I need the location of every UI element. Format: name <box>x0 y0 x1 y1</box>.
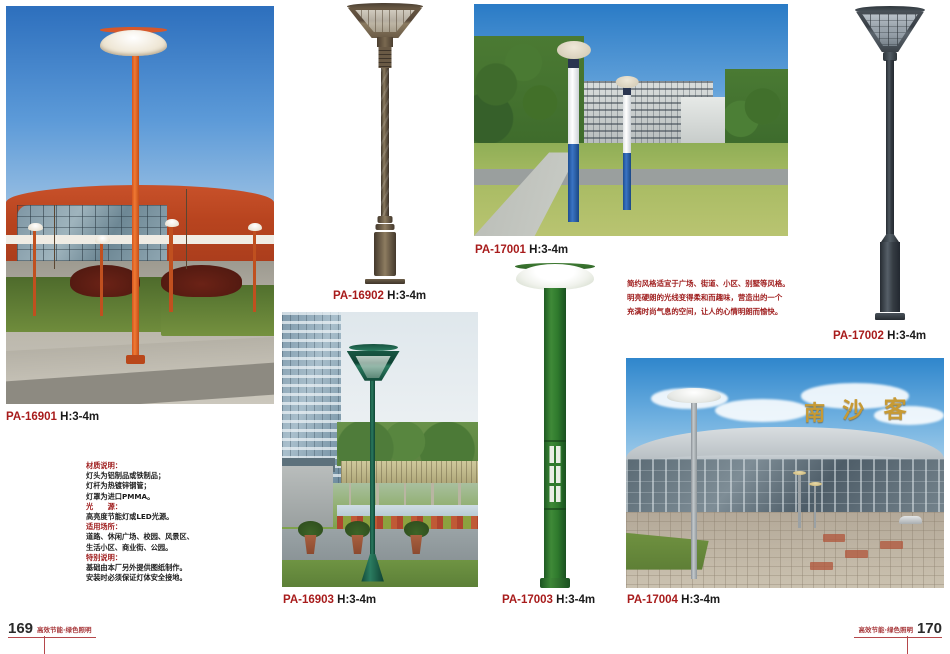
lamp-blue-base <box>568 144 579 222</box>
page-number-right: 170 <box>917 621 942 638</box>
building-podium <box>282 466 333 527</box>
pole-base-column <box>374 232 396 276</box>
pole-seam-upper <box>544 440 566 442</box>
lamp-neck <box>377 37 393 47</box>
paving-pattern-1 <box>810 562 832 570</box>
sign-character-1: 南 <box>804 397 825 427</box>
product-code: PA-16903 <box>283 594 334 606</box>
specification-text-block: 材质说明： 灯头为铝制品或铁制品； 灯杆为热镀锌钢管； 灯罩为进口PMMA。 光… <box>86 461 246 583</box>
orange-lamp-base <box>126 355 146 365</box>
description-line: 简约风格适宜于广场、街道、小区、别墅等风格。 <box>627 277 822 291</box>
lamp-illuminated-shaft <box>623 95 631 153</box>
product-photo-pa-17002 <box>836 2 944 320</box>
caption-pa-17002: PA-17002 H:3-4m <box>833 330 926 342</box>
description-line: 明亮硬朗的光线变得柔和而趣味，营造出的一个 <box>627 291 822 305</box>
background-trees <box>337 422 478 466</box>
water-feature <box>337 505 478 516</box>
product-code: PA-16901 <box>6 411 57 423</box>
background-lamp-cap-1 <box>28 223 42 232</box>
description-line: 充满时尚气息的空间，让人的心情明朗而愉快。 <box>627 305 822 319</box>
background-lamp-pole-1 <box>798 473 801 528</box>
parked-car <box>899 516 921 523</box>
product-photo-pa-17004: 南 沙 客 <box>626 358 944 588</box>
red-shrub-1 <box>70 265 140 297</box>
pole-skirt-transition <box>881 234 899 242</box>
terminal-glass-facade <box>626 459 944 517</box>
caption-pa-17004: PA-17004 H:3-4m <box>627 594 720 606</box>
spec-line: 生活小区、商业街、公园。 <box>86 543 246 553</box>
background-lamp-cap-3 <box>165 219 179 228</box>
lamp-collar <box>623 88 631 95</box>
background-lamp-cap-4 <box>248 223 262 232</box>
bare-tree-1 <box>54 205 55 269</box>
illuminated-grid-window <box>549 446 562 502</box>
product-size: H:3-4m <box>387 290 426 302</box>
lamp-pole <box>886 60 894 238</box>
paving-pattern-4 <box>823 534 845 542</box>
green-column-pole <box>544 288 566 578</box>
caption-pa-16903: PA-16903 H:3-4m <box>283 594 376 606</box>
spec-line: 灯杆为热镀锌钢管； <box>86 481 246 491</box>
lamp-illuminated-shaft <box>568 68 579 144</box>
lamp-shade-top-rim <box>349 344 398 351</box>
lamp-dish-cap <box>616 76 639 88</box>
road <box>474 169 788 185</box>
footer-right: 高效节能·绿色照明 170 <box>854 621 942 638</box>
product-code: PA-17003 <box>502 594 553 606</box>
lamp-foot-plate <box>540 578 570 588</box>
footer-vertical-rule-left <box>44 636 45 654</box>
product-photo-pa-16903 <box>282 312 478 587</box>
grey-lamp-pole <box>691 395 697 579</box>
product-photo-pa-17003 <box>500 258 610 588</box>
background-lamp-cap-1 <box>793 471 806 475</box>
spec-line: 灯罩为进口PMMA。 <box>86 492 246 502</box>
product-size: H:3-4m <box>529 244 568 256</box>
caption-pa-17003: PA-17003 H:3-4m <box>502 594 595 606</box>
background-pole-4 <box>253 229 256 313</box>
lamp-collar <box>568 59 579 68</box>
footer-left: 169 高效节能·绿色照明 <box>8 621 96 638</box>
spec-line: 基础由本厂另外提供图纸制作。 <box>86 563 246 573</box>
pole-bulge-upper <box>378 216 393 223</box>
blue-lamp-post-far <box>623 76 631 211</box>
background-pole-3 <box>169 225 172 313</box>
description-paragraph: 简约风格适宜于广场、街道、小区、别墅等风格。 明亮硬朗的光线变得柔和而趣味，营造… <box>627 277 822 319</box>
lamp-blue-base <box>623 153 631 211</box>
pole-seam-lower <box>544 508 566 510</box>
white-dish-lamp-cap <box>667 388 721 403</box>
product-code: PA-17002 <box>833 330 884 342</box>
green-lamp-pole <box>370 373 375 560</box>
product-size: H:3-4m <box>681 594 720 606</box>
white-dish-lamp-cap <box>516 264 594 290</box>
lamp-ribbed-collar <box>379 47 392 68</box>
lamp-foot-plate <box>875 313 905 320</box>
background-pole-2 <box>100 241 103 317</box>
spec-line: 高亮度节能灯或LED光源。 <box>86 512 246 522</box>
bare-tree-2 <box>186 189 187 269</box>
paving-pattern-2 <box>845 550 867 558</box>
caption-pa-17001: PA-17001 H:3-4m <box>475 244 568 256</box>
tree-row-right <box>725 69 788 153</box>
spec-line: 道路、休闲广场、校园、风景区、 <box>86 532 246 542</box>
lamp-base-plate <box>365 279 405 284</box>
pergola-canopy <box>341 461 478 483</box>
product-size: H:3-4m <box>887 330 926 342</box>
product-code: PA-17001 <box>475 244 526 256</box>
sign-character-2: 沙 <box>842 393 864 425</box>
spec-heading-notes: 特别说明： <box>86 553 246 563</box>
product-photo-pa-17001 <box>474 4 788 236</box>
footer-vertical-rule-right <box>907 636 908 654</box>
orange-lamp-pole <box>132 48 139 362</box>
white-mushroom-lamp-cap <box>100 30 167 56</box>
product-code: PA-16902 <box>333 290 384 302</box>
pole-bulge-mid <box>376 224 395 230</box>
background-lamp-pole-2 <box>814 485 817 529</box>
background-lamp-cap-2 <box>95 235 109 244</box>
blue-lamp-post-near <box>568 41 579 222</box>
product-size: H:3-4m <box>556 594 595 606</box>
spec-line: 安装时必须保证灯体安全接地。 <box>86 573 246 583</box>
background-pole-1 <box>33 229 36 317</box>
spec-line: 灯头为铝制品或铁制品； <box>86 471 246 481</box>
product-size: H:3-4m <box>337 594 376 606</box>
product-code: PA-17004 <box>627 594 678 606</box>
spec-heading-light-source: 光 源： <box>86 502 246 512</box>
page-number-left: 169 <box>8 621 33 638</box>
spec-heading-material: 材质说明： <box>86 461 246 471</box>
twisted-lamp-pole <box>381 68 389 218</box>
red-shrub-2 <box>161 265 241 297</box>
footer-slogan-left: 高效节能·绿色照明 <box>33 625 95 638</box>
caption-pa-16902: PA-16902 H:3-4m <box>333 290 426 302</box>
caption-pa-16901: PA-16901 H:3-4m <box>6 411 99 423</box>
product-size: H:3-4m <box>60 411 99 423</box>
lamp-base-column <box>880 242 900 312</box>
lamp-dish-cap <box>556 41 590 59</box>
spec-heading-applications: 适用场所： <box>86 522 246 532</box>
paving-pattern-3 <box>880 541 902 549</box>
sign-character-3: 客 <box>884 390 907 424</box>
product-photo-pa-16902 <box>332 2 438 284</box>
product-photo-pa-16901 <box>6 6 274 404</box>
catalog-page-spread: PA-16901 H:3-4m 材质说明： 灯头为铝制品或铁制品； 灯杆为热镀锌… <box>0 0 950 654</box>
building-white-band <box>6 235 274 245</box>
